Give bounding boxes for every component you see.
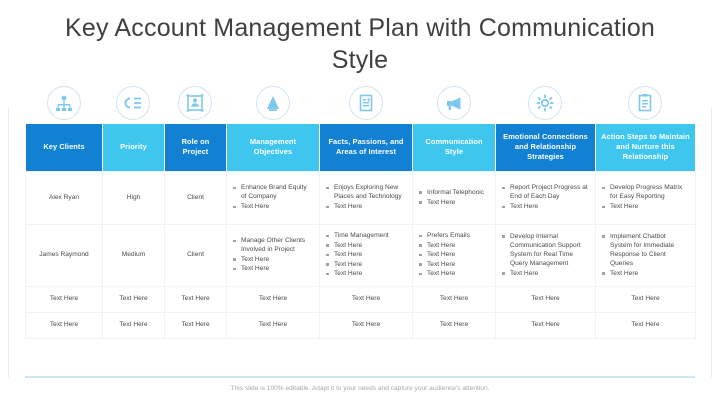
bullet-item: Report Project Progress at End of Each D… [502, 183, 589, 201]
page-title: Key Account Management Plan with Communi… [60, 12, 660, 76]
table-header-label: Key Clients [43, 142, 84, 151]
bullet-item: Develop Progress Matrix for Easy Reporti… [602, 183, 689, 201]
icon-cell-2 [164, 86, 226, 124]
cell-role[interactable]: Client [165, 171, 227, 224]
bullet-item: Implement Chatbot System for Immediate R… [602, 232, 689, 268]
cell-role[interactable]: Client [165, 224, 227, 286]
bullet-list: Develop Internal Communication Support S… [502, 232, 589, 278]
bullet-item: Manage Other Clients Involved in Project [233, 236, 313, 254]
table-row[interactable]: Alex RyanHighClientEnhance Brand Equity … [26, 171, 696, 224]
table-header-label: Priority [120, 142, 147, 151]
cell-priority[interactable]: High [103, 171, 165, 224]
priority-list-icon [116, 86, 150, 120]
right-divider-rule [711, 108, 712, 378]
cell-communication[interactable]: Text Here [413, 286, 496, 312]
cell-role[interactable]: Text Here [165, 312, 227, 338]
left-divider-rule [8, 108, 9, 378]
cell-facts[interactable]: Text Here [320, 312, 413, 338]
table-row[interactable]: James RaymondMediumClientManage Other Cl… [26, 224, 696, 286]
bullet-list: Enjoys Exploring New Places and Technolo… [326, 183, 406, 211]
bullet-list: Time ManagementText HereText HereText He… [326, 231, 406, 278]
cell-emotional[interactable]: Develop Internal Communication Support S… [496, 224, 596, 286]
cell-key-client[interactable]: Text Here [26, 312, 103, 338]
table-header-cell-7: Action Steps to Maintain and Nurture thi… [596, 124, 696, 171]
cell-key-client[interactable]: Text Here [26, 286, 103, 312]
cell-objectives[interactable]: Text Here [227, 286, 320, 312]
cell-key-client[interactable]: James Raymond [26, 224, 103, 286]
document-interest-icon [349, 86, 383, 120]
bullet-item: Text Here [419, 241, 489, 250]
bullet-item: Text Here [502, 202, 589, 211]
briefcase-role-icon [178, 86, 212, 120]
icon-cell-5 [412, 86, 495, 124]
icon-cell-0 [25, 86, 102, 124]
table-row[interactable]: Text HereText HereText HereText HereText… [26, 286, 696, 312]
icon-cell-7 [595, 86, 695, 124]
cell-actions[interactable]: Text Here [596, 286, 696, 312]
bullet-item: Text Here [602, 269, 689, 278]
checklist-action-icon [628, 86, 662, 120]
table-header-cell-4: Facts, Passions, and Areas of Interest [320, 124, 413, 171]
bullet-item: Text Here [326, 269, 406, 278]
key-account-table: Key ClientsPriorityRole on ProjectManage… [25, 124, 696, 339]
cell-actions[interactable]: Develop Progress Matrix for Easy Reporti… [596, 171, 696, 224]
table-header-row: Key ClientsPriorityRole on ProjectManage… [26, 124, 696, 171]
cell-communication[interactable]: Informal TelephonicText Here [413, 171, 496, 224]
table-row[interactable]: Text HereText HereText HereText HereText… [26, 312, 696, 338]
bullet-list: Enhance Brand Equity of CompanyText Here [233, 183, 313, 211]
cell-facts[interactable]: Time ManagementText HereText HereText He… [320, 224, 413, 286]
table-header-label: Role on Project [182, 137, 210, 156]
bullet-list: Prefers EmailsText HereText HereText Her… [419, 231, 489, 278]
table-header-label: Emotional Connections and Relationship S… [503, 132, 588, 161]
bullet-item: Prefers Emails [419, 231, 489, 240]
bullet-item: Text Here [326, 250, 406, 259]
cell-emotional[interactable]: Report Project Progress at End of Each D… [496, 171, 596, 224]
cell-objectives[interactable]: Text Here [227, 312, 320, 338]
table-header-label: Communication Style [425, 137, 482, 156]
cell-emotional[interactable]: Text Here [496, 312, 596, 338]
bullet-item: Text Here [602, 202, 689, 211]
bullet-item: Text Here [419, 198, 489, 207]
table-header-label: Action Steps to Maintain and Nurture thi… [601, 132, 690, 161]
table-header-label: Facts, Passions, and Areas of Interest [328, 137, 403, 156]
cell-role[interactable]: Text Here [165, 286, 227, 312]
bullet-item: Time Management [326, 231, 406, 240]
bullet-item: Text Here [233, 255, 313, 264]
bullet-list: Implement Chatbot System for Immediate R… [602, 232, 689, 278]
table-header-label: Management Objectives [250, 137, 296, 156]
cell-key-client[interactable]: Alex Ryan [26, 171, 103, 224]
footer-divider [25, 376, 695, 378]
bullet-list: Manage Other Clients Involved in Project… [233, 236, 313, 273]
bullet-item: Develop Internal Communication Support S… [502, 232, 589, 268]
cell-communication[interactable]: Text Here [413, 312, 496, 338]
icon-cell-6 [495, 86, 595, 124]
bullet-item: Text Here [233, 202, 313, 211]
cell-communication[interactable]: Prefers EmailsText HereText HereText Her… [413, 224, 496, 286]
table-body: Alex RyanHighClientEnhance Brand Equity … [26, 171, 696, 338]
table-header-cell-0: Key Clients [26, 124, 103, 171]
cell-priority[interactable]: Text Here [103, 286, 165, 312]
bullet-item: Text Here [419, 269, 489, 278]
cell-actions[interactable]: Implement Chatbot System for Immediate R… [596, 224, 696, 286]
cell-emotional[interactable]: Text Here [496, 286, 596, 312]
bullet-item: Text Here [326, 241, 406, 250]
table-header-cell-6: Emotional Connections and Relationship S… [496, 124, 596, 171]
cell-facts[interactable]: Text Here [320, 286, 413, 312]
table-header-cell-5: Communication Style [413, 124, 496, 171]
cell-objectives[interactable]: Manage Other Clients Involved in Project… [227, 224, 320, 286]
bullet-item: Text Here [419, 260, 489, 269]
table-header-cell-2: Role on Project [165, 124, 227, 171]
icon-cell-3 [226, 86, 319, 124]
cell-facts[interactable]: Enjoys Exploring New Places and Technolo… [320, 171, 413, 224]
bullet-item: Text Here [233, 264, 313, 273]
bullet-item: Text Here [419, 250, 489, 259]
table-header-cell-3: Management Objectives [227, 124, 320, 171]
bullet-list: Informal TelephonicText Here [419, 188, 489, 207]
icon-cell-1 [102, 86, 164, 124]
bullet-item: Text Here [326, 260, 406, 269]
footer-note: This slide is 100% editable. Adapt it to… [0, 385, 720, 392]
slide-canvas: Key Account Management Plan with Communi… [0, 0, 720, 404]
cell-priority[interactable]: Text Here [103, 312, 165, 338]
bullet-item: Informal Telephonic [419, 188, 489, 197]
bullet-item: Text Here [326, 202, 406, 211]
bullet-list: Report Project Progress at End of Each D… [502, 183, 589, 211]
cell-objectives[interactable]: Enhance Brand Equity of CompanyText Here [227, 171, 320, 224]
icon-strip [25, 86, 695, 124]
cell-priority[interactable]: Medium [103, 224, 165, 286]
megaphone-communication-icon [437, 86, 471, 120]
gear-relationship-icon [528, 86, 562, 120]
table-header-cell-1: Priority [103, 124, 165, 171]
bullet-item: Enjoys Exploring New Places and Technolo… [326, 183, 406, 201]
target-objective-icon [256, 86, 290, 120]
bullet-list: Develop Progress Matrix for Easy Reporti… [602, 183, 689, 211]
icon-cell-4 [319, 86, 412, 124]
org-chart-icon [47, 86, 81, 120]
cell-actions[interactable]: Text Here [596, 312, 696, 338]
bullet-item: Text Here [502, 269, 589, 278]
bullet-item: Enhance Brand Equity of Company [233, 183, 313, 201]
